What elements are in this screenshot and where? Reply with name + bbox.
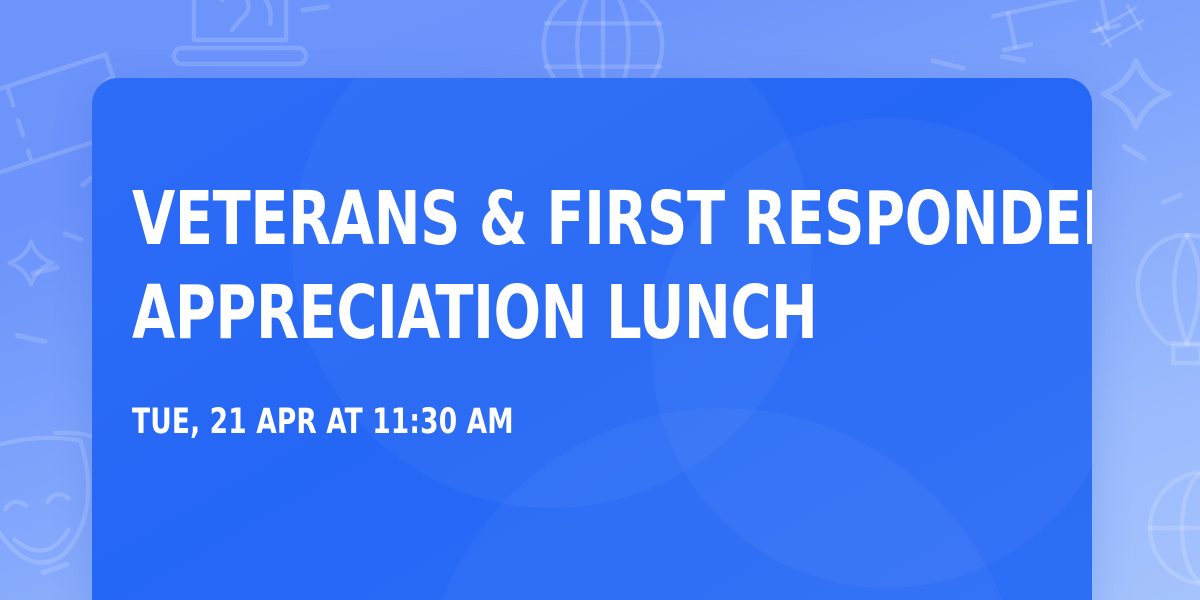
confetti-icon xyxy=(1121,143,1147,162)
laptop-icon xyxy=(170,0,310,84)
event-datetime: Tue, 21 Apr at 11:30 AM xyxy=(132,402,938,442)
sparkle-icon xyxy=(1098,56,1174,132)
confetti-icon xyxy=(30,264,60,276)
event-card-content: Veterans & First Responders Appreciation… xyxy=(92,78,1092,442)
ticket-icon xyxy=(1079,0,1158,62)
event-card[interactable]: Veterans & First Responders Appreciation… xyxy=(92,78,1092,600)
confetti-icon xyxy=(930,58,966,72)
confetti-icon xyxy=(14,333,48,345)
globe-icon xyxy=(1136,458,1200,598)
event-title-line-1: Veterans & First Responders xyxy=(132,172,938,266)
sparkle-icon xyxy=(4,236,58,290)
confetti-icon xyxy=(40,561,70,576)
hot-air-balloon-icon xyxy=(1122,222,1200,382)
confetti-icon xyxy=(1000,54,1026,63)
confetti-icon xyxy=(1160,191,1184,205)
event-banner: Veterans & First Responders Appreciation… xyxy=(0,0,1200,600)
confetti-icon xyxy=(300,4,330,13)
bench-icon xyxy=(970,0,1140,76)
event-title-line-2: Appreciation Lunch xyxy=(132,266,938,360)
confetti-icon xyxy=(62,230,84,242)
